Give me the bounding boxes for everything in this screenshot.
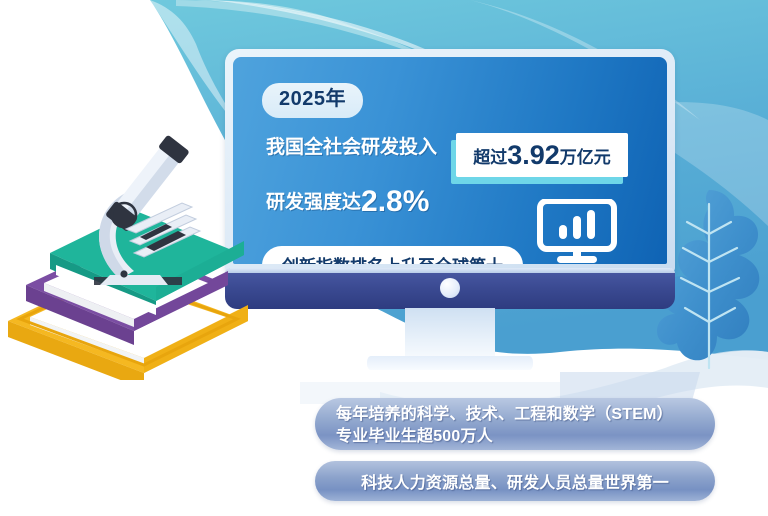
stem-graduates-text: 每年培养的科学、技术、工程和数学（STEM） 专业毕业生超500万人 — [336, 404, 708, 447]
rd-investment-label: 我国全社会研发投入 — [266, 132, 437, 159]
highlight-number: 3.92 — [507, 140, 560, 171]
talent-pool-text: 科技人力资源总量、研发人员总量世界第一 — [315, 461, 715, 501]
year-badge: 2025年 — [262, 83, 363, 118]
infographic-canvas: 2025年 我国全社会研发投入 超过3.92万亿元 研发强度达2.8% 创新指数… — [0, 0, 768, 516]
monitor-base-highlight — [225, 268, 675, 273]
books-and-microscope-illustration — [0, 125, 265, 380]
monitor-illustration: 2025年 我国全社会研发投入 超过3.92万亿元 研发强度达2.8% 创新指数… — [225, 49, 675, 349]
monitor-screen: 2025年 我国全社会研发投入 超过3.92万亿元 研发强度达2.8% 创新指数… — [233, 57, 667, 264]
rd-intensity-line: 研发强度达2.8% — [266, 185, 429, 219]
stem-graduates-line1: 每年培养的科学、技术、工程和数学（STEM） — [336, 404, 708, 426]
monitor-bar-chart-icon — [537, 199, 617, 264]
rd-investment-value: 超过3.92万亿元 — [456, 133, 628, 177]
monitor-stand-foot — [367, 356, 533, 370]
rd-intensity-suffix: % — [403, 185, 430, 218]
stem-graduates-line2: 专业毕业生超500万人 — [336, 426, 708, 448]
innovation-rank-badge: 创新指数排名上升至全球第十 — [262, 246, 523, 264]
monitor-power-button[interactable] — [440, 278, 460, 298]
rd-intensity-prefix: 研发强度达 — [266, 192, 361, 213]
rd-intensity-number: 2.8 — [361, 185, 403, 218]
highlight-prefix: 超过 — [473, 143, 507, 168]
highlight-suffix: 万亿元 — [560, 143, 611, 168]
